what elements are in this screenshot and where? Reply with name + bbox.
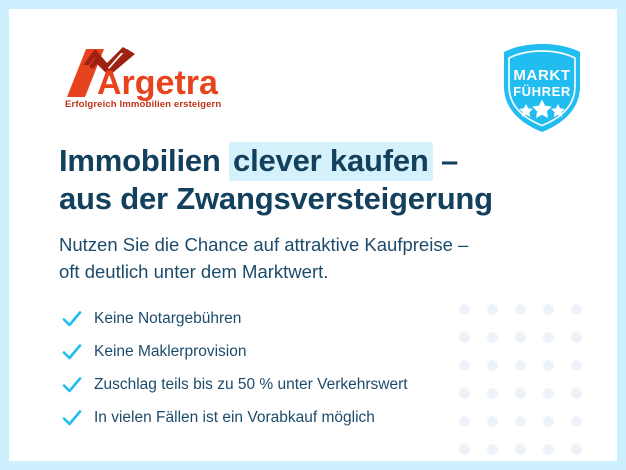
subtitle: Nutzen Sie die Chance auf attraktive Kau… bbox=[59, 231, 579, 286]
headline-line-1: Immobilien clever kaufen – bbox=[59, 142, 579, 180]
decorative-dot bbox=[571, 332, 582, 343]
badge-line2: FÜHRER bbox=[513, 84, 571, 99]
check-icon bbox=[61, 308, 83, 330]
decorative-dot bbox=[515, 304, 526, 315]
check-icon bbox=[61, 407, 83, 429]
decorative-dot bbox=[487, 444, 498, 455]
decorative-dot bbox=[543, 360, 554, 371]
check-icon bbox=[61, 341, 83, 363]
headline-line-2: aus der Zwangsversteigerung bbox=[59, 180, 579, 218]
decorative-dot bbox=[543, 388, 554, 399]
benefits-list: Keine Notargebühren Keine Maklerprovisio… bbox=[61, 304, 408, 436]
decorative-dot bbox=[571, 416, 582, 427]
decorative-dot bbox=[459, 304, 470, 315]
list-item-label: Keine Notargebühren bbox=[94, 311, 241, 327]
promotional-banner: Argetra Erfolgreich Immobilien ersteiger… bbox=[0, 0, 626, 470]
decorative-dot bbox=[571, 388, 582, 399]
argetra-logo[interactable]: Argetra Erfolgreich Immobilien ersteiger… bbox=[59, 47, 239, 109]
list-item: Zuschlag teils bis zu 50 % unter Verkehr… bbox=[61, 370, 408, 400]
decorative-dot-grid bbox=[459, 304, 599, 461]
banner-content-area: Argetra Erfolgreich Immobilien ersteiger… bbox=[9, 9, 617, 461]
decorative-dot bbox=[459, 388, 470, 399]
decorative-dot bbox=[515, 388, 526, 399]
decorative-dot bbox=[515, 332, 526, 343]
decorative-dot bbox=[515, 416, 526, 427]
decorative-dot bbox=[515, 360, 526, 371]
headline-highlight: clever kaufen bbox=[229, 142, 433, 181]
logo-tagline: Erfolgreich Immobilien ersteigern bbox=[65, 99, 221, 109]
decorative-dot bbox=[487, 416, 498, 427]
list-item: Keine Maklerprovision bbox=[61, 337, 408, 367]
headline-text-before: Immobilien bbox=[59, 143, 229, 178]
decorative-dot bbox=[459, 360, 470, 371]
decorative-dot bbox=[543, 416, 554, 427]
decorative-dot bbox=[543, 332, 554, 343]
decorative-dot bbox=[571, 444, 582, 455]
decorative-dot bbox=[487, 388, 498, 399]
list-item-label: Keine Maklerprovision bbox=[94, 344, 247, 360]
decorative-dot bbox=[459, 444, 470, 455]
subtitle-line-2: oft deutlich unter dem Marktwert. bbox=[59, 258, 579, 285]
decorative-dot bbox=[487, 360, 498, 371]
badge-line1: MARKT bbox=[513, 67, 570, 84]
market-leader-badge: MARKT FÜHRER bbox=[496, 42, 588, 134]
subtitle-line-1: Nutzen Sie die Chance auf attraktive Kau… bbox=[59, 231, 579, 258]
decorative-dot bbox=[543, 304, 554, 315]
decorative-dot bbox=[515, 444, 526, 455]
decorative-dot bbox=[487, 304, 498, 315]
page-title: Immobilien clever kaufen – aus der Zwang… bbox=[59, 142, 579, 219]
decorative-dot bbox=[571, 304, 582, 315]
headline-text-after: – bbox=[433, 143, 458, 178]
decorative-dot bbox=[543, 444, 554, 455]
list-item-label: Zuschlag teils bis zu 50 % unter Verkehr… bbox=[94, 377, 408, 393]
check-icon bbox=[61, 374, 83, 396]
logo-brand-name: Argetra bbox=[97, 64, 219, 102]
list-item-label: In vielen Fällen ist ein Vorabkauf mögli… bbox=[94, 410, 375, 426]
decorative-dot bbox=[459, 416, 470, 427]
list-item: Keine Notargebühren bbox=[61, 304, 408, 334]
decorative-dot bbox=[487, 332, 498, 343]
decorative-dot bbox=[459, 332, 470, 343]
decorative-dot bbox=[571, 360, 582, 371]
list-item: In vielen Fällen ist ein Vorabkauf mögli… bbox=[61, 403, 408, 433]
